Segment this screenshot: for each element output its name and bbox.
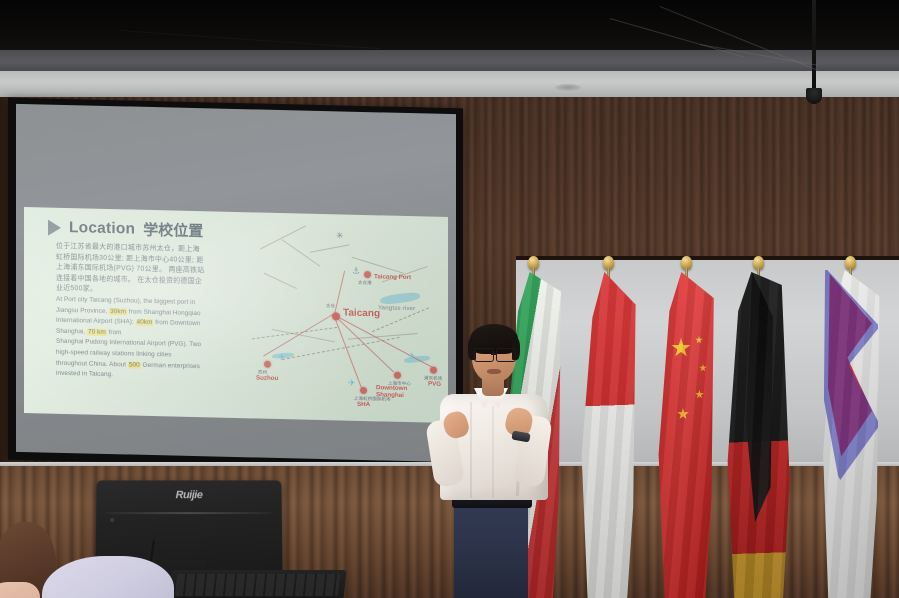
- map-node-layer: 太仓港Taicang Port太仓Taicang苏州Suzhou上海虹桥国际机场…: [252, 232, 444, 237]
- map-node-taicang-port: [364, 271, 371, 278]
- eyeglasses-icon: [474, 348, 494, 362]
- text-run: high-speed railway stations linking citi…: [56, 349, 171, 359]
- conference-room-photo: Location 学校位置 位于江苏省最大的港口城市苏州太仓，距上海虹桥国际机场…: [0, 0, 899, 598]
- keyboard-keys[interactable]: [175, 574, 340, 596]
- nepal-flag: [818, 270, 882, 598]
- text-run: German enterprises: [141, 361, 200, 369]
- ceiling-beam: [0, 50, 899, 72]
- slide-title-row: Location 学校位置: [48, 217, 203, 242]
- text-run: International Airport (SHA);: [56, 317, 136, 326]
- recessed-light: [555, 84, 581, 91]
- map-label-cn-taicang-port: 太仓港: [358, 280, 372, 286]
- map-label-taicang-port: Taicang Port: [374, 273, 411, 281]
- presenter-person: [432, 316, 572, 598]
- text-run: Shanghai Pudong International Airport (P…: [56, 338, 201, 348]
- keyboard[interactable]: [168, 570, 346, 598]
- map-label-downtown-shanghai: Downtown Shanghai: [376, 385, 410, 399]
- yangtze-river-shape: [380, 291, 421, 305]
- airplane-icon: ✈: [278, 353, 286, 362]
- text-run: from: [107, 329, 122, 336]
- projection-screen-surface: Location 学校位置 位于江苏省最大的港口城市苏州太仓，距上海虹桥国际机场…: [16, 104, 456, 462]
- highlighted-value: 40km: [136, 319, 154, 326]
- map-coastline: [264, 273, 297, 289]
- highlighted-value: 500: [128, 361, 141, 368]
- slide-body-text: 位于江苏省最大的港口城市苏州太仓，距上海虹桥国际机场30公里; 距上海市中心40…: [56, 242, 246, 384]
- highlighted-value: 70 km: [87, 328, 107, 335]
- text-run: Jiangsu Province,: [56, 306, 109, 314]
- map-label-cn-taicang: 太仓: [326, 303, 335, 309]
- slide-chinese-paragraph: 位于江苏省最大的港口城市苏州太仓，距上海虹桥国际机场30公里; 距上海市中心40…: [56, 242, 246, 299]
- map-label-taicang: Taicang: [343, 308, 380, 320]
- route-pvg: [334, 314, 432, 367]
- monitor-seam: [106, 512, 272, 514]
- slide-title-en: Location: [69, 219, 135, 239]
- route-downtown-shanghai: [333, 314, 394, 372]
- port-icon: ⚓: [352, 267, 360, 276]
- map-label-yangtze-river: Yangtze river: [378, 305, 415, 312]
- ceiling-soffit: [0, 71, 899, 99]
- presentation-slide: Location 学校位置 位于江苏省最大的港口城市苏州太仓，距上海虹桥国际机场…: [24, 207, 448, 423]
- slide-english-paragraph: At Port city Taicang (Suzhou), the bigge…: [56, 295, 246, 384]
- highlighted-value: 30km: [109, 308, 127, 315]
- text-run: from Downtown: [153, 319, 200, 327]
- map-node-suzhou: [264, 361, 271, 368]
- eyeglasses-icon: [496, 348, 516, 362]
- compass-icon: ✳: [336, 230, 344, 241]
- text-run: invested in Taicang.: [56, 370, 113, 378]
- map-coastline: [310, 244, 349, 252]
- audience-member: [0, 520, 176, 598]
- slide-title-cn: 学校位置: [143, 219, 203, 241]
- map-node-downtown-shanghai: [394, 372, 401, 379]
- location-map: ✈ ✈ ✈ ⚓ ✳ 太仓港Taicang Port太仓Taicang苏州Suzh…: [252, 232, 444, 417]
- text-run: throughout China. About: [56, 359, 128, 368]
- text-run: At Port city Taicang (Suzhou), the bigge…: [56, 296, 195, 306]
- airplane-icon: ✈: [348, 379, 356, 388]
- map-label-suzhou: Suzhou: [256, 374, 278, 382]
- map-node-sha: [360, 387, 367, 394]
- china-flag: [655, 272, 715, 598]
- monitor-brand-logo: Ruijie: [158, 489, 220, 503]
- map-coastline: [260, 225, 306, 249]
- text-run: from Shanghai Hongqiao: [127, 308, 201, 317]
- map-coastline: [281, 239, 320, 266]
- indonesia-flag: [578, 272, 638, 598]
- triangle-right-icon: [48, 219, 61, 235]
- text-run: Shanghai,: [56, 328, 87, 336]
- map-label-sha: SHA: [357, 401, 370, 408]
- airplane-icon: ✈: [408, 352, 416, 361]
- ceiling-cable-fitting: [806, 88, 822, 104]
- map-node-taicang: [332, 312, 340, 320]
- germany-flag: [725, 272, 791, 598]
- ceiling-cable: [812, 0, 816, 95]
